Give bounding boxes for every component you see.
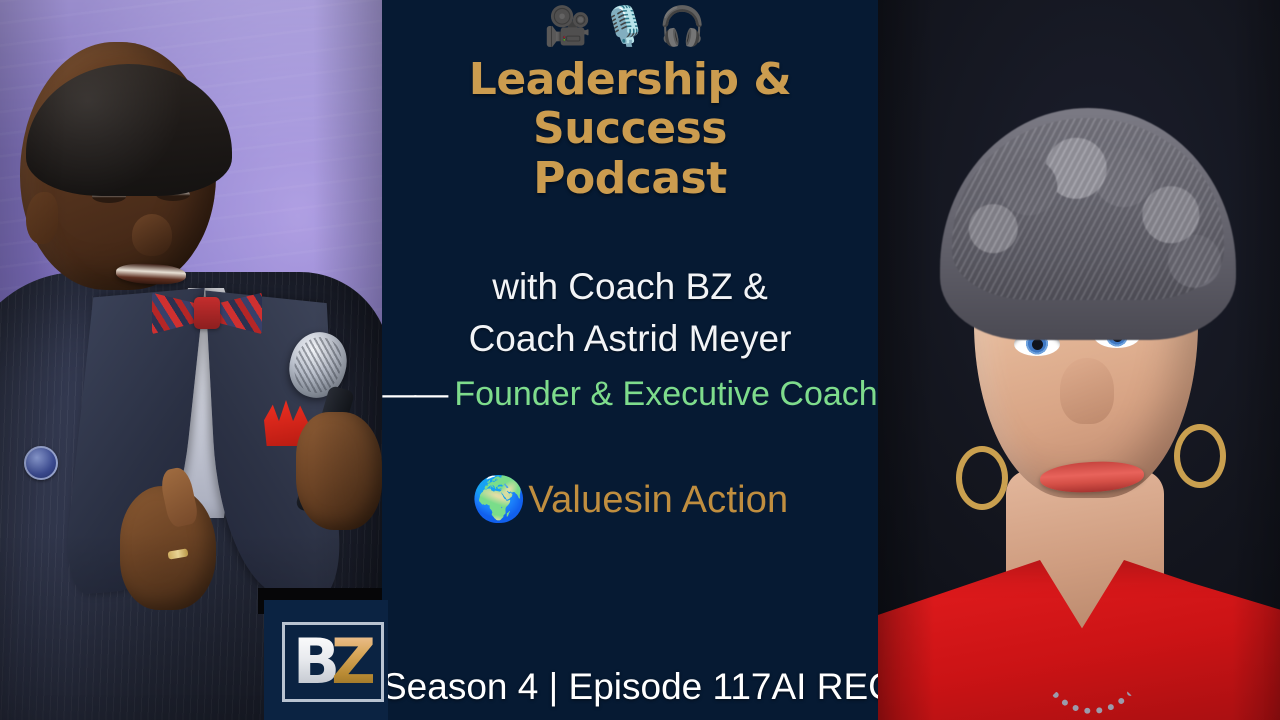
brand-name: Valuesin Action: [528, 479, 788, 522]
host-photo-right: [878, 0, 1280, 720]
host-credits-line-1: with Coach BZ &: [382, 261, 878, 314]
studio-microphone-emoji: 🎙️: [601, 4, 658, 48]
center-info-panel: 🎥🎙️🎧 Leadership & Success Podcast with C…: [382, 0, 878, 720]
role-em-dash: ——: [382, 375, 446, 413]
episode-label: Season 4 | Episode 117AI RECAP: [382, 666, 878, 708]
bz-logo-letter-z: Z: [331, 631, 373, 693]
headphone-emoji: 🎧: [659, 4, 716, 48]
podcast-icon-row: 🎥🎙️🎧: [544, 7, 716, 45]
host-role-text: Founder & Executive Coach: [454, 375, 877, 413]
podcast-thumbnail: 🎥🎙️🎧 Leadership & Success Podcast with C…: [0, 0, 1280, 720]
podcast-title-line-2: Podcast: [382, 154, 878, 203]
host-credits: with Coach BZ & Coach Astrid Meyer: [382, 261, 878, 366]
brand-lockup: 🌍 Valuesin Action: [382, 478, 878, 522]
bz-logo-text: BZ: [293, 631, 373, 693]
movie-camera-emoji: 🎥: [544, 4, 601, 48]
host-credits-line-2: Coach Astrid Meyer: [382, 313, 878, 366]
photo-right-vignette: [878, 0, 1280, 720]
host-role-line: ——Founder & Executive Coach: [382, 372, 878, 416]
podcast-title-line-1: Leadership & Success: [382, 55, 878, 154]
globe-icon: 🌍: [472, 478, 527, 522]
bz-logo-frame: BZ: [282, 622, 384, 702]
podcast-title: Leadership & Success Podcast: [382, 55, 878, 203]
bz-logo: BZ: [264, 600, 388, 720]
